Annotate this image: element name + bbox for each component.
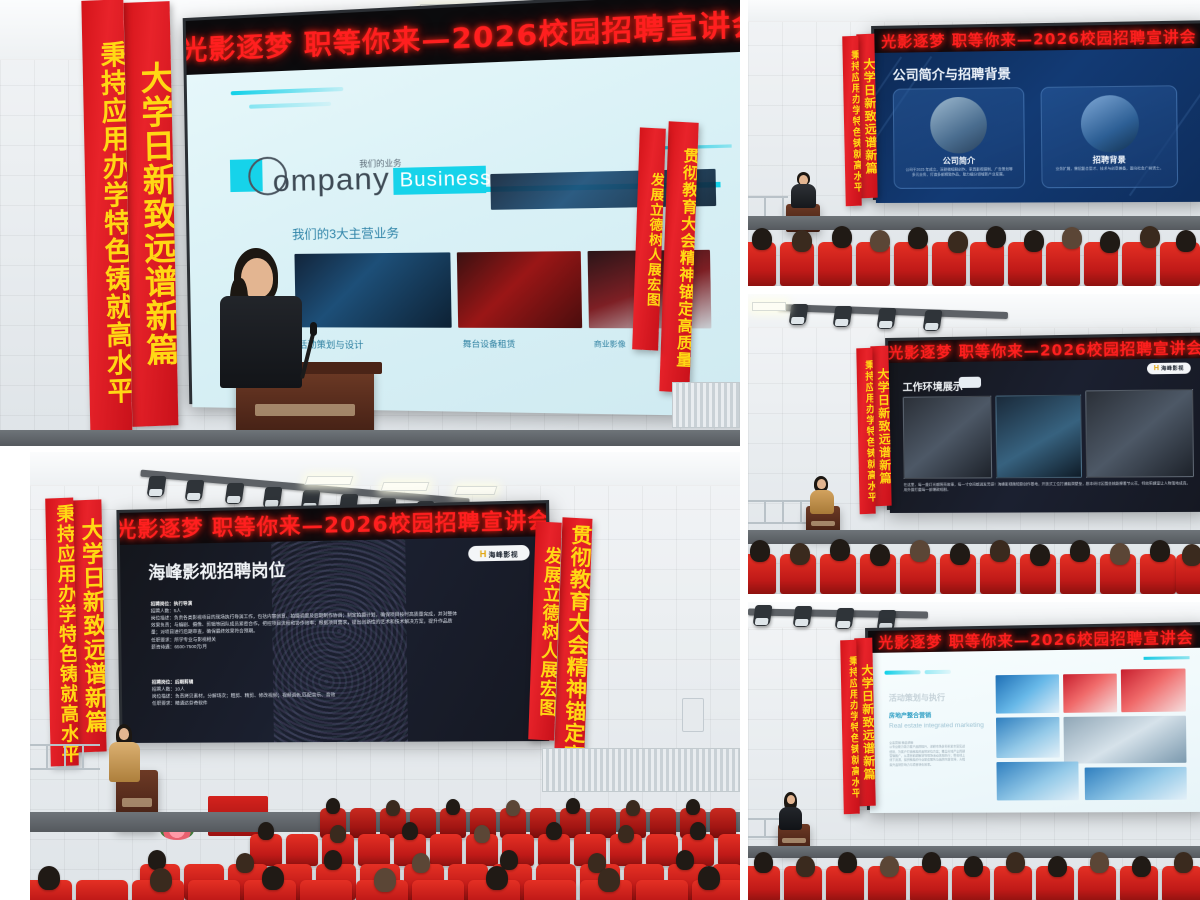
slide-title: 公司简介与招聘背景 — [892, 63, 1010, 84]
stage-spotlight — [789, 304, 809, 325]
panel-middle-right: 光影逐梦 职等你来—2026校园招聘宣讲会 H 海峰影视 工作环境展示 在这里，… — [748, 294, 1200, 594]
audience-area — [748, 538, 1200, 594]
stage-spotlight — [263, 487, 283, 508]
company-logo-mark: H — [1154, 365, 1159, 372]
stage-spotlight — [835, 608, 855, 629]
job-2-req-value: 精通达芬奇软件 — [175, 701, 207, 706]
job-2-desc-label: 岗位描述： — [152, 694, 175, 699]
audience-head — [870, 544, 890, 566]
audience-head — [908, 227, 928, 249]
stage-spotlight — [185, 480, 205, 501]
slide-company-intro: 公司简介与招聘背景 公司简介 公司于2025 年成立，深耕微短剧创作、家具影视摄… — [874, 48, 1200, 203]
workspace-photo-3 — [1085, 389, 1194, 478]
slide-accent-bar — [231, 87, 344, 95]
audience-head — [506, 800, 520, 816]
intro-card-2: 招聘背景 业务扩展，需招复合型才、技术与创意兼备，面向社会广纳贤士。 — [1041, 85, 1179, 188]
audience-head — [1140, 226, 1160, 248]
audience-head — [832, 226, 852, 248]
audience-head — [754, 852, 773, 873]
job-2-count-label: 招聘人数： — [152, 687, 175, 692]
audience-head — [326, 798, 340, 814]
audience-head — [870, 230, 890, 252]
audience-head — [1174, 852, 1193, 873]
audience-head — [950, 543, 970, 565]
slide-title-en: Real estate integrated marketing — [889, 722, 984, 730]
audience-area — [748, 852, 1200, 900]
speaker-head — [119, 728, 129, 740]
slide-subtitle: 我们的3大主营业务 — [292, 224, 399, 243]
audience-head — [790, 543, 810, 565]
audience-head — [1110, 543, 1130, 565]
audience-head — [796, 856, 815, 877]
audience-head — [374, 868, 396, 892]
audience-head — [686, 799, 700, 815]
job-1-salary-value: 6500-7500元/月 — [174, 644, 207, 649]
audience-head — [330, 825, 346, 843]
audience-area — [748, 224, 1200, 286]
job-2-count-value: 10人 — [175, 687, 185, 692]
slide-accent-line — [1144, 656, 1190, 660]
speaker — [214, 248, 314, 383]
speaker-body — [109, 742, 140, 782]
panel-bottom-left: 光影逐梦 职等你来—2026校园招聘宣讲会 H 海峰影视 海峰影视招聘岗位 招聘… — [30, 452, 740, 900]
audience-head — [474, 825, 490, 843]
audience-head — [1132, 856, 1151, 877]
audience-head — [598, 868, 620, 892]
seat — [300, 880, 352, 900]
intro-card-1-heading: 公司简介 — [894, 155, 1024, 167]
job-2-desc-value: 负责拷贝素材，分解场次；粗剪、精剪、修改视频；视频调色,匹配音乐、音效 — [175, 692, 335, 698]
audience-head — [1024, 230, 1044, 252]
company-logo: H 海峰影视 — [1147, 362, 1191, 374]
audience-head — [750, 540, 770, 562]
audience-head — [948, 231, 968, 253]
audience-head — [626, 800, 640, 816]
intro-card-1-body: 公司于2025 年成立，深耕微短剧创作、家具影视摄制、广告策划等多元业务，打造多… — [905, 167, 1014, 178]
slide-accent-bar — [925, 670, 951, 674]
panel-top-right: 光影逐梦 职等你来—2026校园招聘宣讲会 公司简介与招聘背景 公司简介 公司于… — [748, 0, 1200, 286]
audience-head — [566, 798, 580, 814]
marketing-photo-6 — [996, 761, 1078, 800]
seat — [524, 880, 576, 900]
panel-bottom-right: 光影逐梦 职等你来—2026校园招聘宣讲会 活动策划与执行 房地产整合营销 Re… — [748, 602, 1200, 900]
job-1-position-label: 招聘岗位： — [151, 601, 174, 606]
audience-head — [258, 822, 274, 840]
job-1-desc-label: 岗位描述： — [151, 615, 174, 620]
audience-head — [1062, 227, 1082, 249]
slide-job-positions: H 海峰影视 海峰影视招聘岗位 招聘岗位：执行导演 招聘人数：5人 岗位 — [120, 536, 549, 743]
slide-work-environment: H 海峰影视 工作环境展示 在这里，每一盏灯光都照亮故事，每一寸空间都迸发灵感！… — [888, 358, 1200, 513]
audience-head — [698, 866, 720, 890]
slide-title-company: ompany — [272, 162, 390, 199]
seat — [636, 880, 688, 900]
audience-head — [752, 228, 772, 250]
audience-head — [618, 825, 634, 843]
stage-railing — [748, 196, 788, 218]
workspace-photo-1 — [903, 396, 992, 479]
ceiling-light — [305, 476, 354, 485]
intro-card-1-thumb — [930, 97, 987, 154]
ceiling-light — [455, 486, 498, 495]
audience-head — [990, 540, 1010, 562]
seat — [412, 880, 464, 900]
audience-head — [236, 853, 254, 873]
intro-card-2-body: 业务扩展，需招复合型才、技术与创意兼备，面向社会广纳贤士。 — [1053, 166, 1167, 172]
business-photo-2 — [457, 251, 582, 328]
job-1-req-label: 任职要求： — [151, 637, 174, 642]
slide-accent-bar — [249, 102, 331, 109]
job-1-salary-label: 薪资待遇： — [151, 644, 174, 649]
red-banner-left-line1: 大学日新致远谱新篇 — [124, 1, 179, 427]
ceiling-light — [752, 302, 786, 311]
marketing-photo-1 — [996, 674, 1060, 713]
led-screen: 光影逐梦 职等你来—2026校园招聘宣讲会 H 海峰影视 海峰影视招聘岗位 招聘… — [116, 500, 552, 740]
job-2-req-label: 任职要求： — [152, 701, 175, 706]
audience-head — [880, 856, 899, 877]
marketing-photo-4 — [996, 717, 1060, 758]
audience-head — [1176, 230, 1196, 252]
audience-head — [792, 230, 812, 252]
led-screen: 光影逐梦 职等你来—2026校园招聘宣讲会 公司简介与招聘背景 公司简介 公司于… — [871, 20, 1200, 200]
audience-head — [150, 868, 172, 892]
audience-head — [386, 800, 400, 816]
slide-title-chip — [959, 377, 981, 388]
marketing-photo-7 — [1085, 767, 1187, 800]
business-caption-2: 舞台设备租赁 — [463, 338, 516, 350]
audience-head — [1090, 852, 1109, 873]
stage-spotlight — [793, 606, 813, 627]
audience-head — [324, 850, 342, 870]
panel-top-left: 光影逐梦 职等你来—2026校园招聘宣讲会 我们的业务 ompany Busin… — [0, 0, 740, 446]
audience-head — [838, 852, 857, 873]
presenter-head — [787, 795, 795, 804]
seat — [818, 242, 852, 286]
job-1-count-label: 招聘人数： — [151, 608, 174, 613]
audience-head — [1150, 540, 1170, 562]
marketing-photo-3 — [1121, 669, 1186, 713]
business-photo-1 — [294, 252, 451, 327]
marketing-photo-2 — [1063, 674, 1117, 713]
job-2-block: 招聘岗位：后期剪辑 招聘人数：10人 岗位描述：负责拷贝素材，分解场次；粗剪、精… — [152, 676, 460, 708]
audience-head — [910, 540, 930, 562]
audience-head — [402, 822, 418, 840]
audience-head — [446, 799, 460, 815]
slide-title-rest: ompany — [272, 162, 390, 198]
wall-radiator — [542, 748, 740, 792]
audience-head — [38, 866, 60, 890]
stage-spotlight — [753, 605, 773, 626]
company-logo-mark: H — [480, 548, 487, 558]
presenter — [808, 476, 836, 514]
company-logo-text: 海峰影视 — [1161, 365, 1184, 372]
audience-head — [922, 852, 941, 873]
speaker-body — [220, 296, 302, 388]
seat — [894, 242, 928, 286]
job-2-position-value: 后期剪辑 — [175, 679, 194, 684]
led-screen: 光影逐梦 职等你来—2026校园招聘宣讲会 活动策划与执行 房地产整合营销 Re… — [865, 622, 1200, 810]
job-1-block: 招聘岗位：执行导演 招聘人数：5人 岗位描述：负责各类影视项目的现场执行导演工作… — [151, 596, 459, 651]
slide-body-text: 全案营销 精益求精 以专业能力助力客户品牌提升，深耕市场多年积累丰富实战经验，为… — [889, 740, 966, 767]
business-caption-3: 商业影像 — [594, 339, 626, 350]
presenter — [778, 792, 804, 830]
presenter-head — [817, 479, 826, 489]
slide-title-cn: 房地产整合营销 — [889, 710, 931, 719]
stage-spotlight — [225, 483, 245, 504]
slide-title-highlight: Business — [393, 166, 486, 195]
audience-head — [546, 822, 562, 840]
presenter-body — [810, 490, 834, 514]
workspace-photo-2 — [995, 395, 1082, 479]
audience-head — [1182, 544, 1200, 566]
red-banner-left-line2: 秉持应用办学特色铸就高水平 — [45, 497, 79, 766]
led-banner-text: 光影逐梦 职等你来—2026校园招聘宣讲会 — [881, 25, 1196, 51]
photo-collage: 光影逐梦 职等你来—2026校园招聘宣讲会 我们的业务 ompany Busin… — [0, 0, 1200, 900]
job-1-req-value: 所学专业与影视相关 — [174, 636, 216, 642]
job-1-position-value: 执行导演 — [174, 601, 193, 606]
audience-head — [1070, 540, 1090, 562]
led-screen: 光影逐梦 职等你来—2026校园招聘宣讲会 H 海峰影视 工作环境展示 在这里，… — [885, 332, 1200, 510]
seat — [1122, 242, 1156, 286]
ceiling-light — [381, 482, 430, 491]
audience-head — [964, 856, 983, 877]
company-logo-text: 海峰影视 — [488, 548, 518, 559]
slide-footer-text: 在这里，每一盏灯光都照亮故事，每一寸空间都迸发灵感！海峰影视微短剧创作基地，开放… — [904, 481, 1192, 494]
job-2-req-row: 任职要求：精通达芬奇软件 — [152, 698, 460, 708]
audience-head — [690, 822, 706, 840]
stage-spotlight — [877, 308, 897, 329]
intro-card-2-heading: 招聘背景 — [1042, 154, 1177, 166]
presenter-body — [791, 184, 816, 208]
audience-head — [1006, 852, 1025, 873]
slide-accent-bar — [884, 670, 920, 675]
wall-radiator — [672, 382, 740, 428]
stage-spotlight — [833, 306, 853, 327]
stage-floor — [0, 430, 740, 446]
company-logo: H 海峰影视 — [468, 545, 530, 562]
audience-head — [486, 866, 508, 890]
seat — [188, 880, 240, 900]
audience-head — [830, 539, 850, 561]
presenter-body — [779, 807, 802, 830]
seat — [76, 880, 128, 900]
slide-title: 海峰影视招聘岗位 — [148, 556, 286, 584]
audience-row-4 — [30, 872, 740, 900]
wall-control-panel — [682, 698, 704, 732]
intro-card-2-thumb — [1081, 95, 1140, 153]
speaker — [106, 724, 142, 780]
stage-railing — [30, 744, 100, 770]
intro-card-1: 公司简介 公司于2025 年成立，深耕微短剧创作、家具影视摄制、广告策划等多元业… — [893, 87, 1025, 189]
marketing-photo-5 — [1063, 716, 1186, 764]
job-1-count-value: 5人 — [174, 608, 181, 613]
slide-real-estate-marketing: 活动策划与执行 房地产整合营销 Real estate integrated m… — [868, 648, 1200, 813]
audience-head — [1100, 231, 1120, 253]
seat — [970, 242, 1004, 286]
audience-head — [1030, 544, 1050, 566]
audience-head — [676, 850, 694, 870]
audience-head — [986, 226, 1006, 248]
job-1-desc-value: 负责各类影视项目的现场执行导演工作，包括内容创意、拍摄调度及后期制作协调；制定拍… — [151, 611, 457, 635]
stage-spotlight — [147, 476, 167, 497]
presenter — [790, 172, 818, 208]
slide-heading: 活动策划与执行 — [889, 692, 945, 704]
audience-head — [262, 866, 284, 890]
slide-title: 工作环境展示 — [903, 378, 963, 394]
audience-head — [412, 853, 430, 873]
audience-head — [148, 850, 166, 870]
microphone-head — [310, 322, 317, 336]
stage-spotlight — [923, 310, 943, 331]
job-2-position-label: 招聘岗位： — [152, 679, 175, 684]
audience-head — [1048, 856, 1067, 877]
